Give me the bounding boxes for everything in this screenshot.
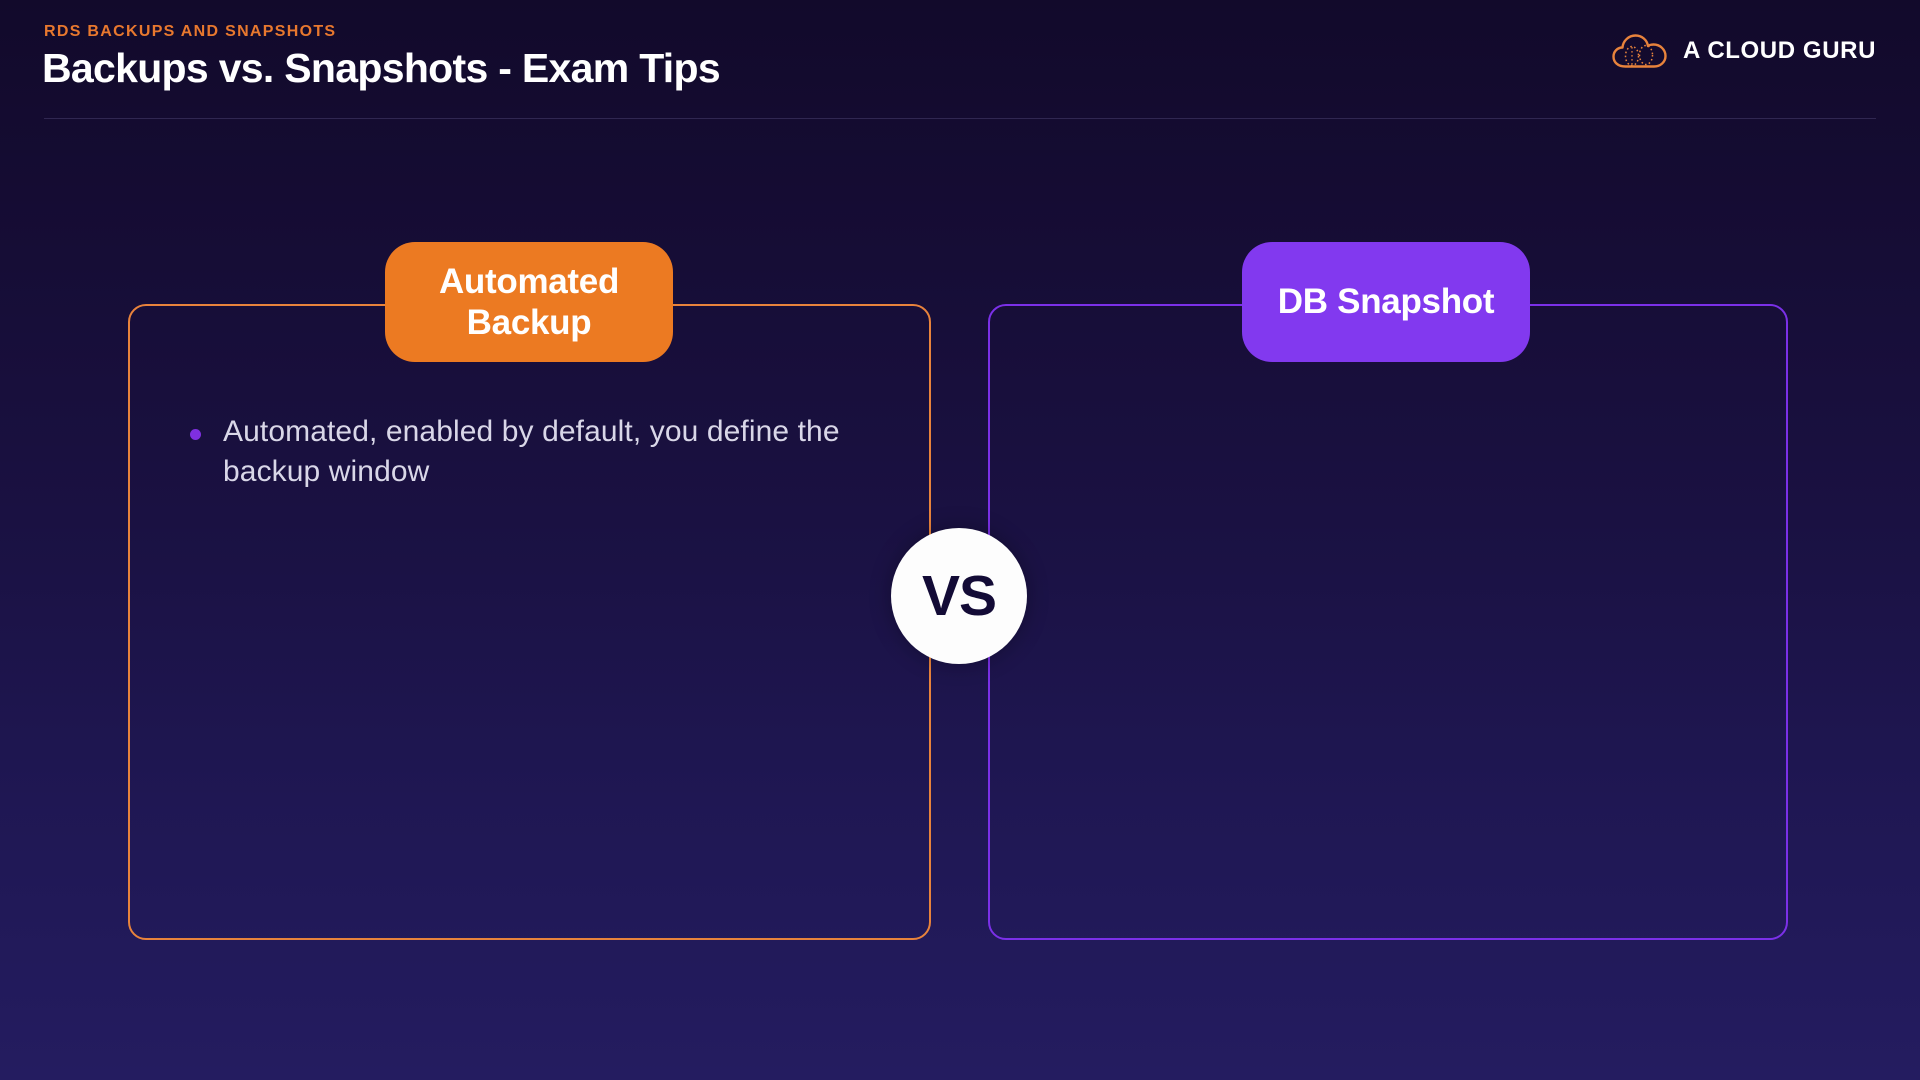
- versus-label: VS: [922, 563, 996, 629]
- automated-backup-card: [128, 304, 931, 940]
- bullet-dot-icon: [190, 429, 201, 440]
- db-snapshot-badge: DB Snapshot: [1242, 242, 1530, 362]
- brand-logo: A CLOUD GURU: [1611, 32, 1876, 70]
- db-snapshot-card: [988, 304, 1788, 940]
- automated-backup-badge: Automated Backup: [385, 242, 673, 362]
- automated-backup-bullet-list: Automated, enabled by default, you defin…: [190, 412, 840, 510]
- page-title: Backups vs. Snapshots - Exam Tips: [42, 45, 720, 92]
- page-header: RDS BACKUPS AND SNAPSHOTS Backups vs. Sn…: [0, 0, 1920, 126]
- brand-logo-text: A CLOUD GURU: [1683, 37, 1876, 65]
- list-item: Automated, enabled by default, you defin…: [190, 412, 840, 492]
- versus-badge: VS: [891, 528, 1027, 664]
- header-divider: [44, 118, 1876, 119]
- bullet-text: Automated, enabled by default, you defin…: [223, 412, 840, 492]
- breadcrumb-eyebrow: RDS BACKUPS AND SNAPSHOTS: [44, 23, 336, 41]
- cloud-guru-logo-icon: [1611, 32, 1669, 70]
